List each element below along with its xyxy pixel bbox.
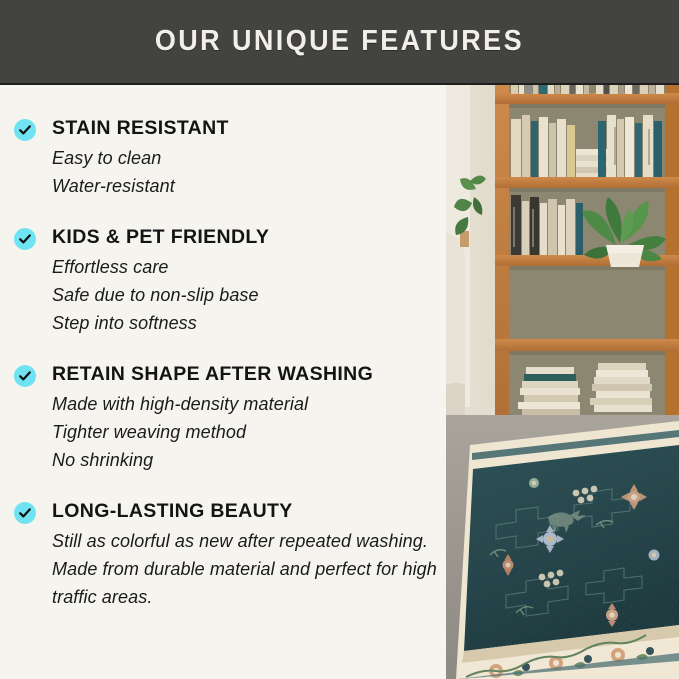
- feature-detail: Step into softness: [52, 309, 440, 337]
- page-title: OUR UNIQUE FEATURES: [155, 25, 524, 58]
- feature-detail: No shrinking: [52, 446, 440, 474]
- feature-block: RETAIN SHAPE AFTER WASHING Made with hig…: [14, 363, 440, 474]
- feature-title: RETAIN SHAPE AFTER WASHING: [52, 363, 440, 385]
- feature-detail: Safe due to non-slip base: [52, 281, 440, 309]
- feature-detail: Tighter weaving method: [52, 418, 440, 446]
- feature-detail: Water-resistant: [52, 172, 440, 200]
- feature-detail: Easy to clean: [52, 144, 440, 172]
- feature-block: KIDS & PET FRIENDLY Effortless care Safe…: [14, 226, 440, 337]
- header-bar: OUR UNIQUE FEATURES: [0, 0, 679, 85]
- check-circle-icon: [14, 365, 36, 387]
- feature-infographic: OUR UNIQUE FEATURES STAIN RESISTANT Easy…: [0, 0, 679, 679]
- check-circle-icon: [14, 119, 36, 141]
- living-room-rug-photo: [446, 85, 679, 679]
- feature-block: LONG-LASTING BEAUTY Still as colorful as…: [14, 500, 440, 611]
- feature-title: STAIN RESISTANT: [52, 117, 440, 139]
- features-panel: STAIN RESISTANT Easy to clean Water-resi…: [0, 87, 446, 679]
- feature-title: KIDS & PET FRIENDLY: [52, 226, 440, 248]
- check-circle-icon: [14, 228, 36, 250]
- feature-detail: Made with high-density material: [52, 390, 440, 418]
- check-circle-icon: [14, 502, 36, 524]
- feature-block: STAIN RESISTANT Easy to clean Water-resi…: [14, 117, 440, 200]
- feature-title: LONG-LASTING BEAUTY: [52, 500, 440, 522]
- feature-detail: Effortless care: [52, 253, 440, 281]
- feature-detail: Still as colorful as new after repeated …: [52, 527, 440, 611]
